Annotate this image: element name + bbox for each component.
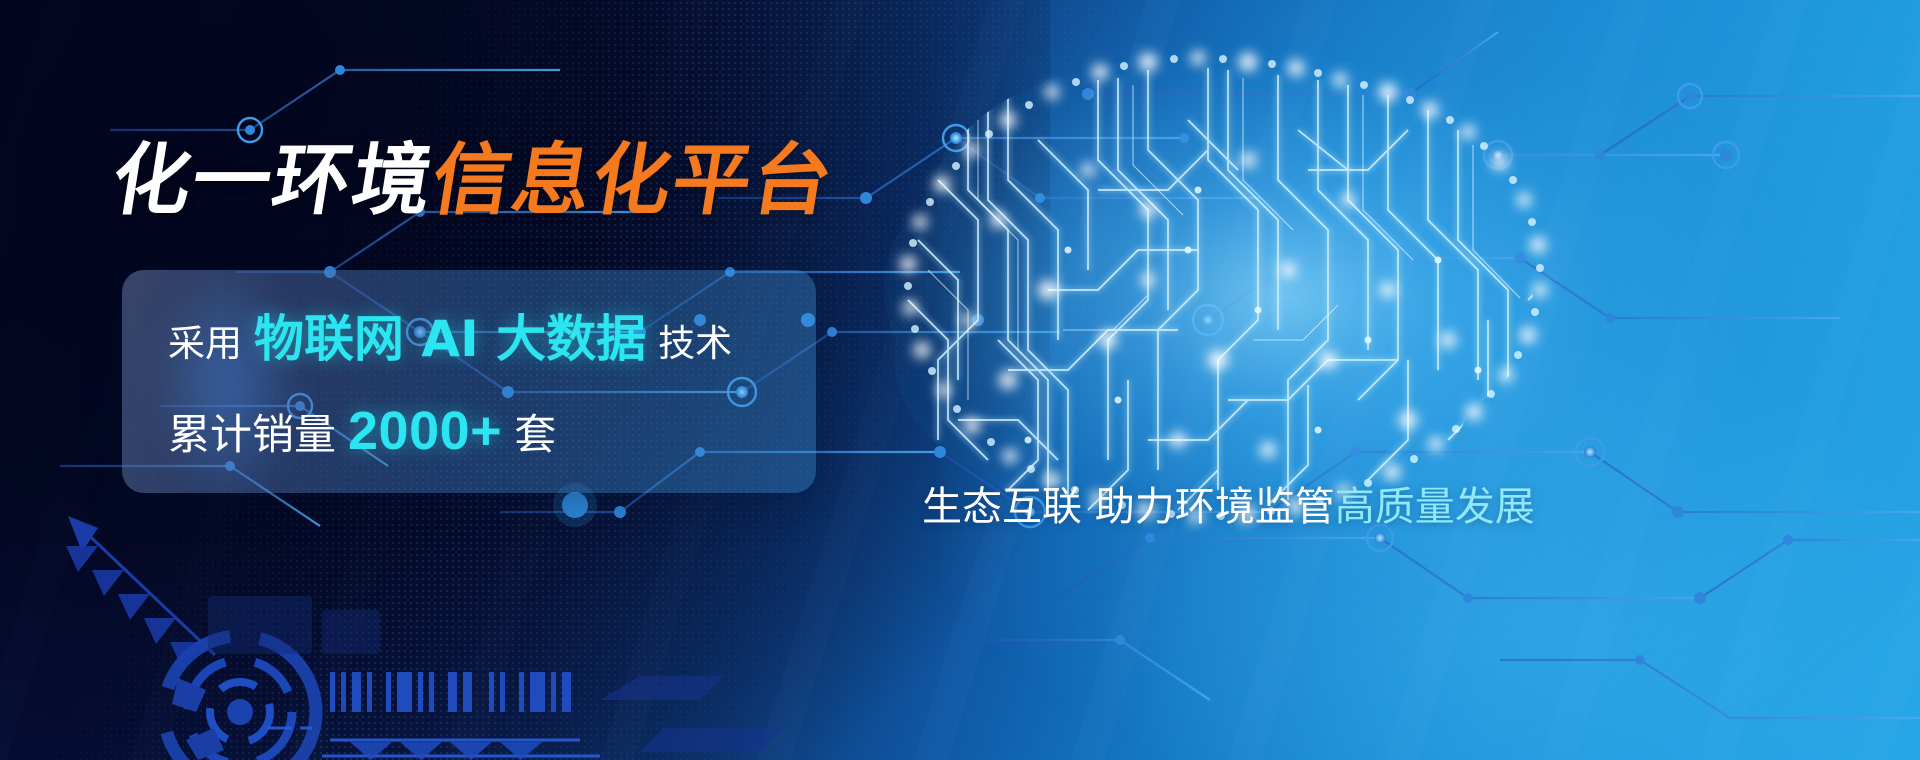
hud-panel: [600, 676, 784, 752]
line1-highlight: 物联网 AI 大数据: [254, 310, 646, 368]
tagline-accent: 高质量发展: [1335, 484, 1535, 530]
feature-line-sales: 累计销量2000+套: [168, 404, 556, 458]
line1-prefix: 采用: [168, 322, 242, 365]
banner-headline: 化一环境信息化平台: [107, 142, 839, 220]
headline-accent: 信息化平台: [427, 142, 839, 220]
line1-suffix: 技术: [658, 322, 732, 365]
line2-prefix: 累计销量: [168, 410, 336, 459]
barcode-decoration: [330, 672, 571, 712]
tagline-primary: 生态互联 助力环境监管: [922, 484, 1335, 530]
feature-card: 采用物联网 AI 大数据技术 累计销量2000+套: [122, 270, 816, 493]
banner-tagline: 生态互联 助力环境监管高质量发展: [922, 487, 1535, 527]
arrow-decoration: [68, 516, 215, 655]
radial-hud-dial: [164, 636, 316, 760]
arrow-triangles: [66, 546, 202, 668]
ghost-boxes: [208, 596, 380, 654]
line2-highlight: 2000+: [348, 401, 502, 461]
feature-line-technology: 采用物联网 AI 大数据技术: [168, 314, 732, 364]
headline-primary: 化一环境: [107, 142, 439, 220]
promo-banner: 化一环境信息化平台 采用物联网 AI 大数据技术 累计销量2000+套 生态互联…: [0, 0, 1920, 760]
line2-suffix: 套: [514, 410, 556, 459]
